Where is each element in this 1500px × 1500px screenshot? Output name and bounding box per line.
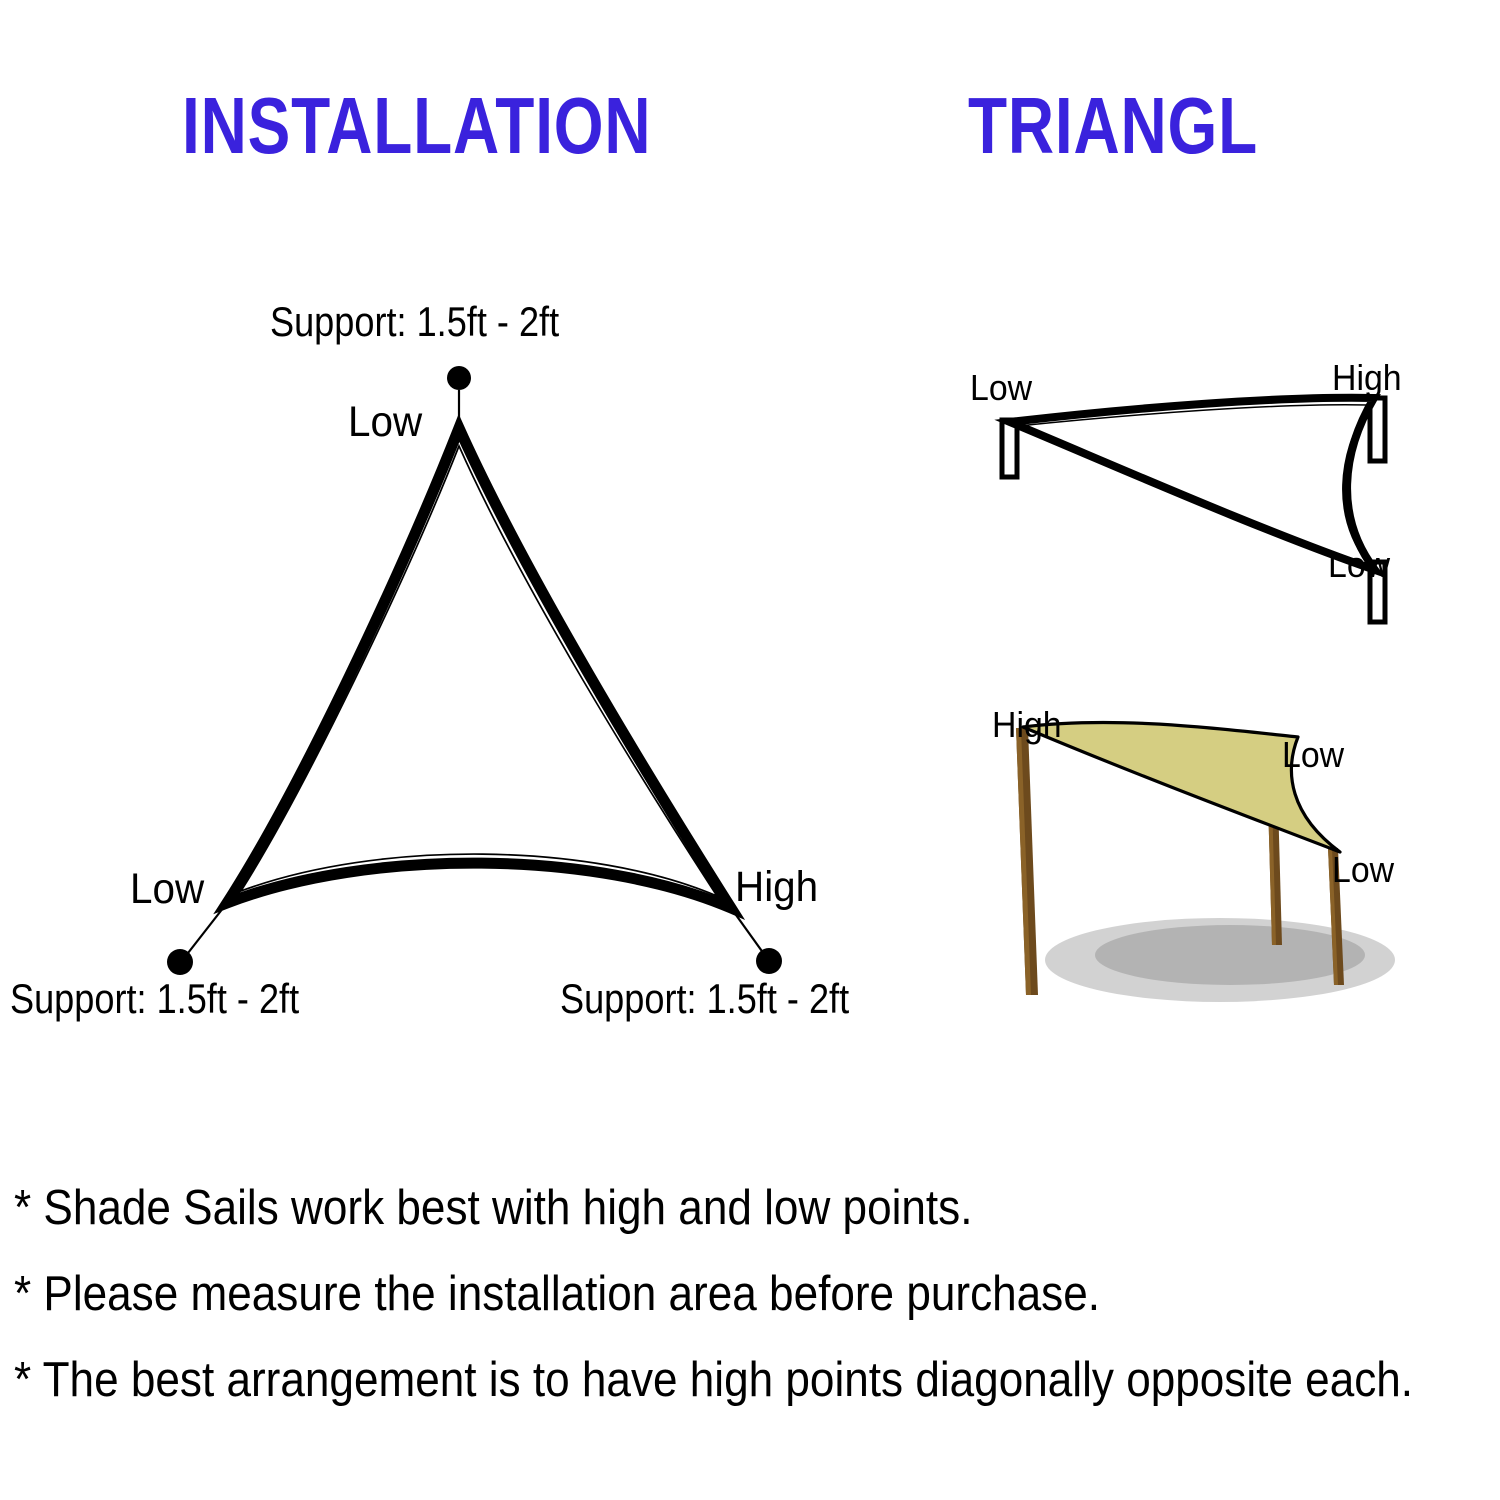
- support-label-left: Support: 1.5ft - 2ft: [10, 975, 299, 1023]
- wireframe-sail-outer: [1010, 398, 1375, 570]
- rendered-corner-label-top-right-low: Low: [1282, 735, 1344, 775]
- footnote-item: * Please measure the installation area b…: [14, 1251, 1346, 1337]
- anchor-dot-right: [756, 948, 782, 974]
- footnote-item: * The best arrangement is to have high p…: [14, 1337, 1346, 1423]
- page-title-triangle: TRIANGL: [968, 78, 1258, 174]
- corner-label-top-low: Low: [348, 398, 422, 446]
- triangle-sail-plan-svg: [0, 270, 950, 1060]
- post-left-wireframe: [1002, 420, 1017, 477]
- support-label-top: Support: 1.5ft - 2ft: [270, 298, 559, 346]
- footnote-item: * Shade Sails work best with high and lo…: [14, 1165, 1346, 1251]
- anchor-dot-left: [167, 949, 193, 975]
- wireframe-corner-label-left-low: Low: [970, 368, 1032, 408]
- right-diagram-column: Low High Low High Low Low: [930, 340, 1500, 1040]
- wireframe-corner-label-bottom-right-low: Low: [1328, 545, 1390, 585]
- rendered-corner-label-bottom-right-low: Low: [1332, 850, 1394, 890]
- sail-outline-outer: [227, 428, 731, 908]
- rendered-corner-label-left-high: High: [992, 705, 1062, 745]
- installation-plan-diagram: Support: 1.5ft - 2ft Low Low High Suppor…: [0, 270, 950, 1060]
- anchor-dot-top: [447, 366, 471, 390]
- corner-label-right-high: High: [735, 863, 818, 911]
- header: INSTALLATION TRIANGL: [0, 78, 1500, 178]
- wireframe-corner-label-top-right-high: High: [1332, 358, 1402, 398]
- corner-label-left-low: Low: [130, 865, 204, 913]
- page-title-installation: INSTALLATION: [182, 78, 651, 174]
- wireframe-sail-group: [1002, 398, 1385, 622]
- ground-shadow-core: [1095, 925, 1365, 985]
- support-label-right: Support: 1.5ft - 2ft: [560, 975, 849, 1023]
- right-diagrams-svg: [930, 340, 1500, 1040]
- footnotes-list: * Shade Sails work best with high and lo…: [14, 1165, 1494, 1423]
